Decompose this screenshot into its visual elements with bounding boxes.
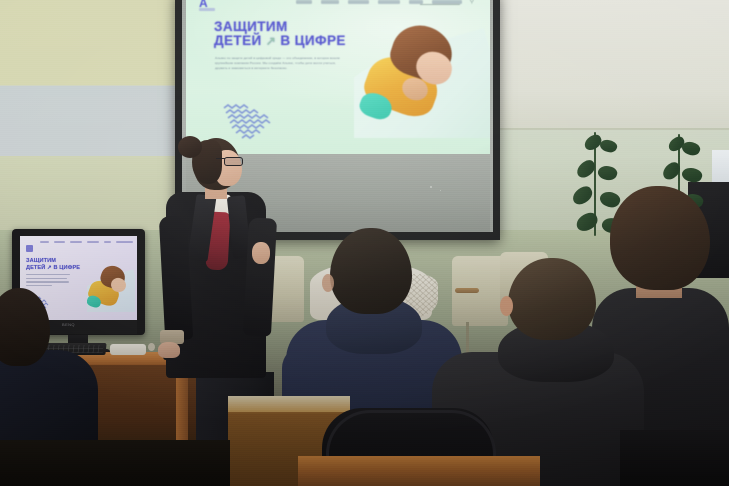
screen-speck-2 — [440, 190, 441, 191]
wall-right-upper — [500, 0, 729, 130]
monitor-nav-item-4 — [104, 241, 111, 244]
presenter-glasses — [224, 157, 243, 166]
student-2-head — [508, 258, 596, 340]
arrow-up-right-icon: ↗ — [266, 34, 276, 48]
presenter-hair-bun — [178, 136, 202, 158]
monitor-nav-item-2 — [70, 241, 82, 244]
computer-mouse[interactable] — [148, 343, 155, 351]
slide-headline-line2: ДЕТЕЙ ↗ В ЦИФРЕ — [214, 34, 346, 48]
student-1-head — [330, 228, 412, 314]
foreground-shadow-right — [620, 430, 729, 486]
student-2-ear — [500, 296, 513, 316]
screenshot-scene: A Альянс Проекты Стандарты Участники Med… — [0, 0, 729, 486]
monitor-child-photo — [87, 262, 135, 312]
search-icon: ⚲ — [470, 0, 474, 5]
slide-search-field — [420, 0, 460, 5]
slide-nav-item-0: Альянс — [296, 0, 312, 4]
monitor-headline-line2: ДЕТЕЙ ↗ В ЦИФРЕ — [26, 265, 80, 271]
student-desk-front — [298, 456, 540, 486]
zigzag-decoration — [222, 104, 274, 140]
student-1-ear — [322, 274, 334, 292]
wall-color-band — [0, 86, 200, 156]
screen-speck — [430, 186, 432, 188]
presenter-hand-left — [158, 342, 180, 358]
monitor-brand-label: BENQ — [62, 322, 75, 327]
monitor-site-logo — [26, 245, 33, 252]
paper-tray — [110, 344, 146, 355]
monitor-nav-item-5 — [116, 241, 133, 244]
chair-right-leg — [466, 322, 469, 354]
slide-logo-underline — [199, 8, 215, 11]
monitor-navbar — [26, 240, 133, 244]
slide-headline-line1: ЗАЩИТИМ — [214, 19, 288, 34]
projected-slide: A Альянс Проекты Стандарты Участники Med… — [186, 0, 490, 154]
monitor-nav-item-3 — [87, 241, 99, 244]
monitor-headline-line1: ЗАЩИТИМ — [26, 258, 56, 264]
monitor-nav-item-0 — [40, 241, 49, 244]
slide-body-text: Альянс по защите детей в цифровой среде … — [215, 56, 343, 72]
slide-headline-word-vcifre: В ЦИФРЕ — [280, 33, 345, 48]
presenter-hand-right — [252, 242, 270, 264]
slide-content: A Альянс Проекты Стандарты Участники Med… — [186, 0, 490, 154]
slide-headline-word-deti: ДЕТЕЙ — [214, 33, 262, 48]
monitor-nav-item-1 — [54, 241, 65, 244]
slide-nav-item-3: Участники — [378, 0, 400, 4]
slide-child-photo — [354, 8, 490, 138]
monitor-headline: ЗАЩИТИМ ДЕТЕЙ ↗ В ЦИФРЕ — [26, 258, 80, 271]
slide-nav-item-2: Стандарты — [348, 0, 369, 4]
slide-nav-item-1: Проекты — [321, 0, 339, 4]
student-3-head — [610, 186, 710, 290]
slide-headline: ЗАЩИТИМ ДЕТЕЙ ↗ В ЦИФРЕ — [214, 20, 346, 48]
monitor-body-text — [26, 274, 70, 288]
foreground-shadow-left — [0, 440, 230, 486]
student-desk-left-top — [228, 396, 350, 412]
chair-right-armrest — [455, 288, 479, 293]
